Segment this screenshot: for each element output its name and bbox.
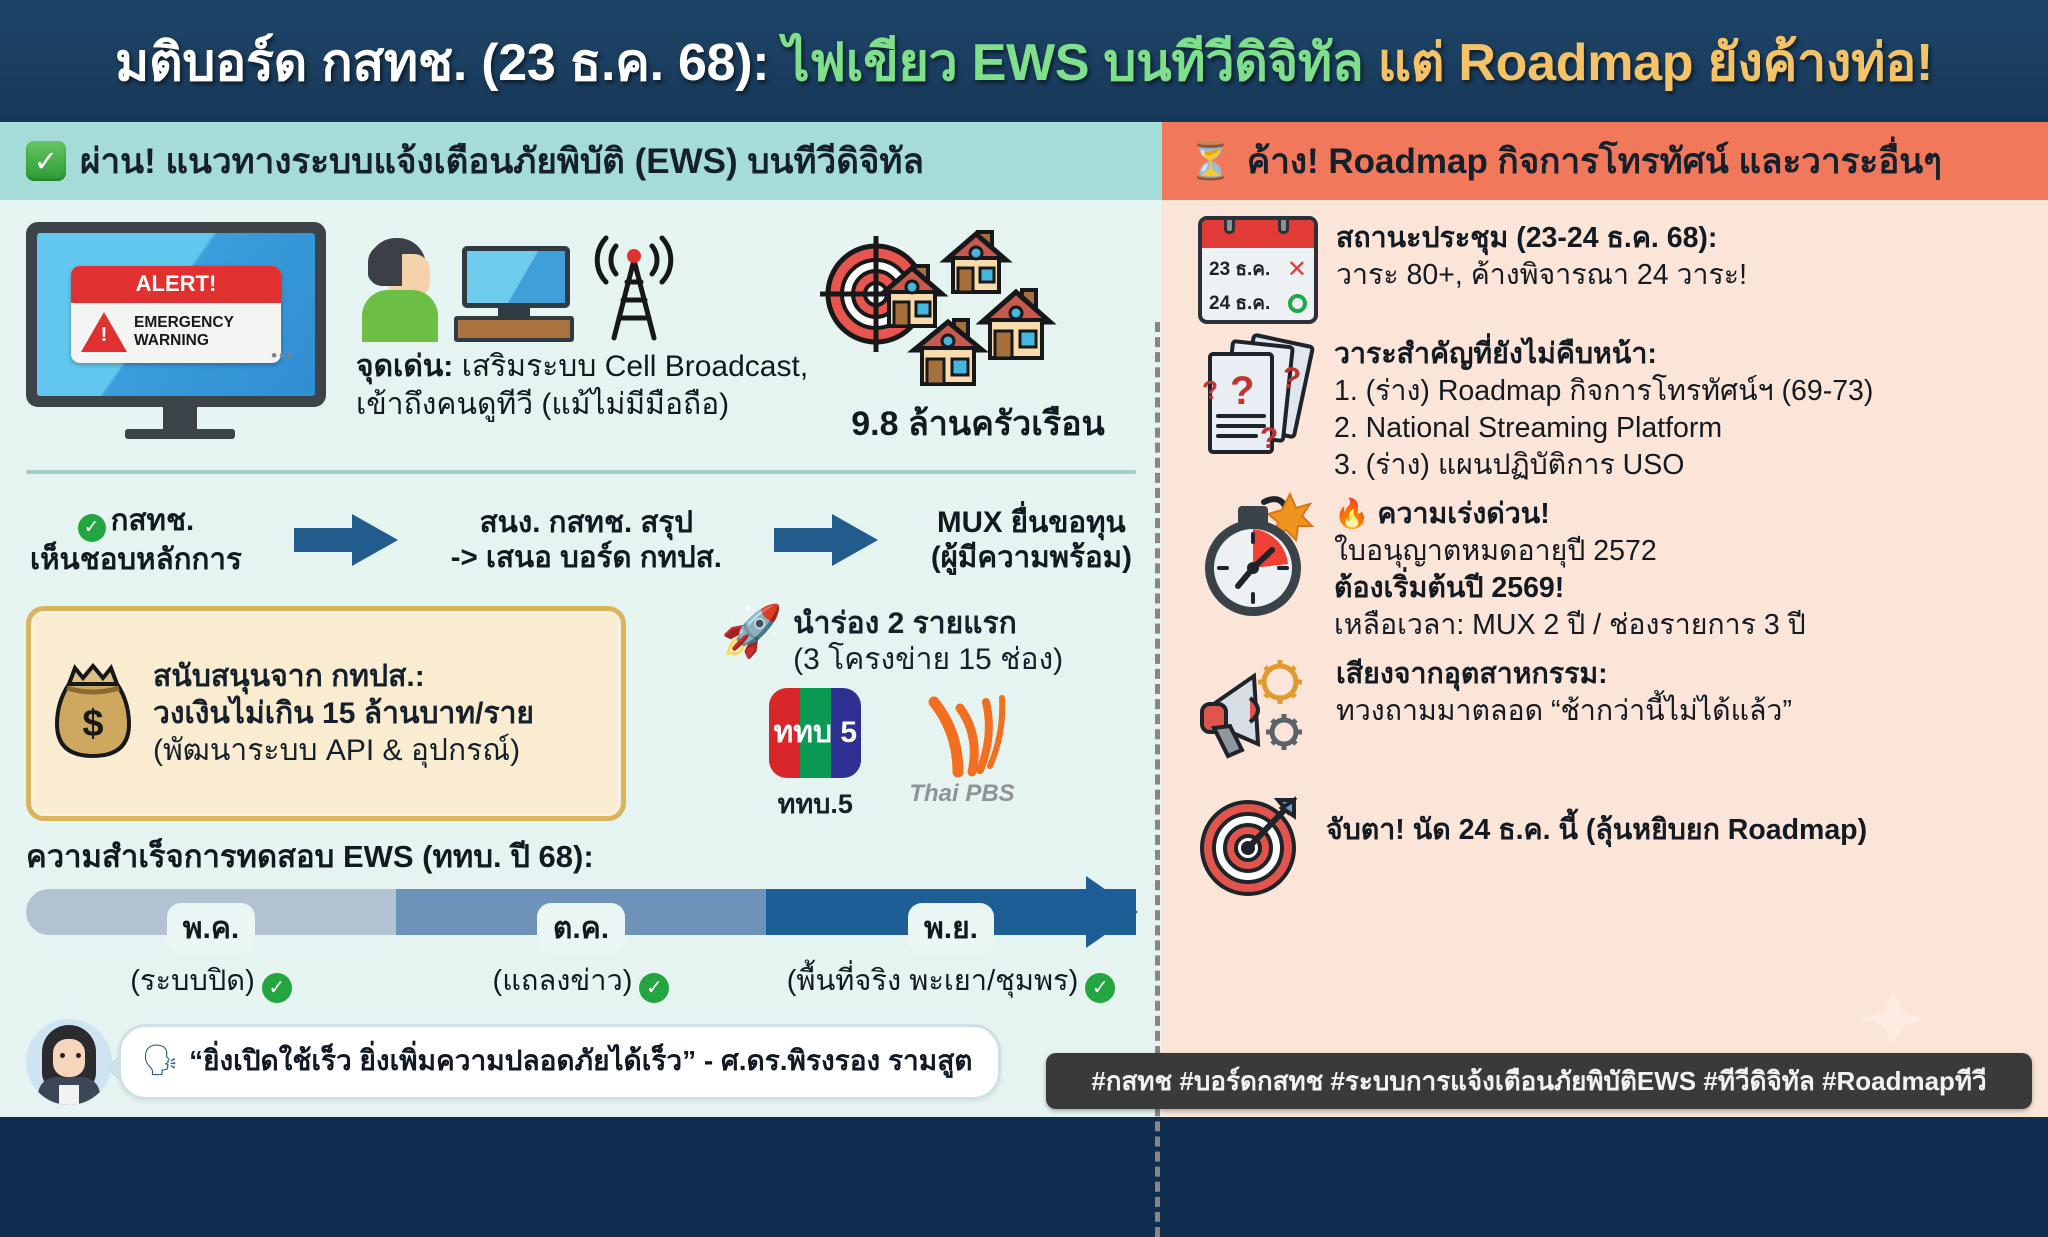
- viewer-illustration: [356, 222, 812, 342]
- megaphone-gears-icon: [1198, 652, 1318, 770]
- urgency-title: 🔥 ความเร่งด่วน!: [1334, 496, 1806, 533]
- flow-step-3-line1: MUX ยื่นขอทุน: [931, 505, 1132, 540]
- hourglass-icon: ⏳: [1188, 143, 1233, 179]
- calendar-row-2: 24 ธ.ค.: [1207, 286, 1309, 320]
- calendar-graphic: 23 ธ.ค. ✕ 24 ธ.ค.: [1198, 216, 1318, 324]
- title-part-2: ไฟเขียว EWS บนทีวีดิจิทัล: [783, 34, 1377, 92]
- broadcast-tower-icon: [586, 230, 682, 342]
- warn-line-2: WARNING: [134, 332, 234, 350]
- documents-graphic: ? ? ? ?: [1198, 332, 1316, 462]
- circle-icon: [1288, 294, 1307, 313]
- funding-line-3: (พัฒนาระบบ API & อุปกรณ์): [153, 732, 534, 769]
- logo-item-thaipbs: Thai PBS: [909, 688, 1014, 825]
- right-panel-header: ⏳ ค้าง! Roadmap กิจการโทรทัศน์ และวาระอื…: [1162, 122, 2048, 200]
- urgency-title-label: ความเร่งด่วน!: [1377, 498, 1549, 530]
- title-part-3: แต่ Roadmap ยังค้างท่อ!: [1378, 34, 1933, 92]
- funding-pilot-row: $ สนับสนุนจาก กทปส.: วงเงินไม่เกิน 15 ล้…: [26, 606, 1136, 821]
- left-panel-header-label: ผ่าน! แนวทางระบบแจ้งเตือนภัยพิบัติ (EWS)…: [80, 134, 924, 189]
- pilot-logos: ททบ 5 ททบ.5: [648, 688, 1136, 825]
- highlight-text: จุดเด่น: เสริมระบบ Cell Broadcast, เข้าถ…: [356, 348, 812, 423]
- timeline-point-2-month: ต.ค.: [537, 903, 625, 955]
- tv-frame: ALERT! EMERGENCY WARNING: [26, 222, 326, 407]
- timeline-point-1: พ.ค. (ระบบปิด)✓: [26, 903, 396, 1003]
- stalled-agenda-line-3: 3. (ร่าง) แผนปฏิบัติการ USO: [1334, 447, 1873, 484]
- alert-body: EMERGENCY WARNING: [71, 303, 281, 363]
- left-panel-approved: ✓ ผ่าน! แนวทางระบบแจ้งเตือนภัยพิบัติ (EW…: [0, 122, 1162, 1117]
- highlight-column: จุดเด่น: เสริมระบบ Cell Broadcast, เข้าถ…: [342, 222, 812, 423]
- check-circle-icon: ✓: [639, 973, 669, 1003]
- rocket-icon: 🚀: [721, 606, 783, 656]
- right-item-watch: จับตา! นัด 24 ธ.ค. นี้ (ลุ้นหยิบยก Roadm…: [1198, 786, 2028, 896]
- timeline-point-1-note: (ระบบปิด)✓: [26, 957, 396, 1003]
- alert-warning-text: EMERGENCY WARNING: [134, 314, 234, 351]
- bomb-clock-graphic: [1198, 492, 1316, 620]
- warning-triangle-icon: [81, 312, 127, 352]
- right-item-meeting-status: 23 ธ.ค. ✕ 24 ธ.ค. สถานะประชุม (2: [1198, 216, 2028, 324]
- speaking-head-icon: 🗣: [141, 1046, 179, 1076]
- right-panel-body: 23 ธ.ค. ✕ 24 ธ.ค. สถานะประชุม (2: [1162, 200, 2048, 1117]
- white-check-mark-icon: ✓: [26, 141, 66, 181]
- stalled-agenda-title: วาระสำคัญที่ยังไม่คืบหน้า:: [1334, 336, 1873, 373]
- right-item-urgency-text: 🔥 ความเร่งด่วน! ใบอนุญาตหมดอายุปี 2572 ต…: [1334, 492, 1806, 644]
- calendar-row-2-date: 24 ธ.ค.: [1209, 288, 1270, 318]
- flow-arrow-2-icon: [774, 514, 878, 566]
- small-tv-icon: [454, 246, 572, 342]
- pilot-line-1: นำร่อง 2 รายแรก: [793, 606, 1063, 642]
- meeting-status-title: สถานะประชุม (23-24 ธ.ค. 68):: [1336, 220, 1747, 257]
- highlight-label: จุดเด่น:: [356, 350, 453, 383]
- thaipbs-bird-icon: [914, 688, 1010, 778]
- right-panel-header-label: ค้าง! Roadmap กิจการโทรทัศน์ และวาระอื่น…: [1247, 134, 1942, 189]
- highlight-line-2: เข้าถึงคนดูทีวี (แม้ไม่มีมือถือ): [356, 386, 812, 424]
- meeting-status-line-1: วาระ 80+, ค้างพิจารณา 24 วาระ!: [1336, 257, 1747, 294]
- pilot-heading: 🚀 นำร่อง 2 รายแรก (3 โครงข่าย 15 ช่อง): [648, 606, 1136, 678]
- right-item-industry-text: เสียงจากอุตสาหกรรม: ทวงถามมาตลอด “ช้ากว่…: [1336, 652, 1792, 730]
- flow-step-3-line2: (ผู้มีความพร้อม): [931, 540, 1132, 575]
- flow-step-2-line2: -> เสนอ บอร์ด กทปส.: [451, 540, 722, 575]
- hashtag-text: #กสทช #บอร์ดกสทช #ระบบการแจ้งเตือนภัยพิบ…: [1091, 1061, 1986, 1102]
- thaipbs-logo-caption: Thai PBS: [909, 780, 1014, 808]
- target-and-houses-icon: [820, 222, 1120, 390]
- flow-step-1: ✓กสทช. เห็นชอบหลักการ: [30, 503, 242, 577]
- svg-text:$: $: [82, 703, 103, 745]
- right-item-stalled-agenda: ? ? ? ? วาระสำคัญที่ยังไม่คืบหน้า: 1. (ร…: [1198, 332, 2028, 484]
- megaphone-graphic: [1198, 652, 1318, 770]
- dartboard-graphic: [1198, 786, 1308, 896]
- tv-screen: ALERT! EMERGENCY WARNING: [37, 233, 315, 396]
- svg-text:?: ?: [1260, 422, 1278, 455]
- right-item-urgency: 🔥 ความเร่งด่วน! ใบอนุญาตหมดอายุปี 2572 ต…: [1198, 492, 2028, 644]
- highlight-line-1: เสริมระบบ Cell Broadcast,: [453, 350, 808, 383]
- infographic-page: มติบอร์ด กสทช. (23 ธ.ค. 68): ไฟเขียว EWS…: [0, 0, 2048, 1117]
- ews-test-timeline: พ.ค. (ระบบปิด)✓ ต.ค. (แถลงข่าว)✓ พ.ย. (พ…: [26, 889, 1136, 1009]
- timeline-marks: พ.ค. (ระบบปิด)✓ ต.ค. (แถลงข่าว)✓ พ.ย. (พ…: [26, 903, 1136, 1003]
- households-count: 9.8 ล้านครัวเรือน: [820, 396, 1136, 450]
- watermark-icon: [1858, 989, 1928, 1047]
- tv-base: [125, 429, 235, 439]
- right-item-industry-voice: เสียงจากอุตสาหกรรม: ทวงถามมาตลอด “ช้ากว่…: [1198, 652, 2028, 770]
- timeline-point-3-month: พ.ย.: [908, 903, 994, 955]
- money-bag-icon: $: [47, 662, 139, 766]
- right-item-agenda-text: วาระสำคัญที่ยังไม่คืบหน้า: 1. (ร่าง) Roa…: [1334, 332, 1873, 484]
- urgency-line-2: ต้องเริ่มต้นปี 2569!: [1334, 570, 1806, 607]
- industry-voice-line-1: ทวงถามมาตลอด “ช้ากว่านี้ไม่ได้แล้ว”: [1336, 693, 1792, 730]
- right-item-watch-text: จับตา! นัด 24 ธ.ค. นี้ (ลุ้นหยิบยก Roadm…: [1326, 786, 1867, 849]
- check-circle-icon: ✓: [262, 973, 292, 1003]
- alert-card: ALERT! EMERGENCY WARNING: [71, 266, 281, 363]
- timeline-point-2-note: (แถลงข่าว)✓: [396, 957, 766, 1003]
- urgency-line-1: ใบอนุญาตหมดอายุปี 2572: [1334, 533, 1806, 570]
- title-part-1: มติบอร์ด กสทช. (23 ธ.ค. 68):: [115, 34, 783, 92]
- documents-question-icon: ? ? ? ?: [1198, 332, 1316, 462]
- ch5-logo-caption: ททบ.5: [769, 782, 861, 825]
- timeline-point-2: ต.ค. (แถลงข่าว)✓: [396, 903, 766, 1003]
- timeline-point-3-note: (พื้นที่จริง พะเยา/ชุมพร)✓: [766, 957, 1136, 1003]
- calendar-row-1: 23 ธ.ค. ✕: [1207, 252, 1309, 286]
- industry-voice-title: เสียงจากอุตสาหกรรม:: [1336, 656, 1792, 693]
- page-title: มติบอร์ด กสทช. (23 ธ.ค. 68): ไฟเขียว EWS…: [115, 20, 1933, 103]
- urgency-line-3: เหลือเวลา: MUX 2 ปี / ช่องรายการ 3 ปี: [1334, 607, 1806, 644]
- flow-step-2-line1: สนง. กสทช. สรุป: [451, 505, 722, 540]
- person-icon: [362, 238, 440, 342]
- quote-row: 🗣 “ยิ่งเปิดใช้เร็ว ยิ่งเพิ่มความปลอดภัยไ…: [26, 1019, 1001, 1105]
- cross-icon: ✕: [1287, 255, 1307, 284]
- right-panel-pending: ⏳ ค้าง! Roadmap กิจการโทรทัศน์ และวาระอื…: [1162, 122, 2048, 1117]
- left-panel-body: ALERT! EMERGENCY WARNING: [0, 200, 1162, 1117]
- tv-stand: [163, 407, 197, 429]
- timeline-point-3: พ.ย. (พื้นที่จริง พะเยา/ชุมพร)✓: [766, 903, 1136, 1003]
- flow-step-1-line1: กสทช.: [111, 504, 195, 537]
- timeline-point-1-month: พ.ค.: [167, 903, 256, 955]
- flow-step-3: MUX ยื่นขอทุน (ผู้มีความพร้อม): [931, 505, 1132, 576]
- fire-icon: 🔥: [1334, 498, 1370, 530]
- ch5-logo-mark: ททบ 5: [769, 688, 861, 778]
- stalled-agenda-line-1: 1. (ร่าง) Roadmap กิจการโทรทัศน์ฯ (69-73…: [1334, 373, 1873, 410]
- tv-alert-illustration: ALERT! EMERGENCY WARNING: [26, 222, 334, 440]
- funding-line-2: วงเงินไม่เกิน 15 ล้านบาท/ราย: [153, 695, 534, 732]
- avatar: [26, 1019, 112, 1105]
- houses-target-illustration: [820, 222, 1136, 394]
- flow-step-2: สนง. กสทช. สรุป -> เสนอ บอร์ด กทปส.: [451, 505, 722, 576]
- alert-title: ALERT!: [71, 266, 281, 303]
- flow-arrow-1-icon: [294, 514, 398, 566]
- tv-indicator-dots: •••: [271, 346, 295, 366]
- logo-item-ch5: ททบ 5 ททบ.5: [769, 688, 861, 825]
- timeline-title: ความสำเร็จการทดสอบ EWS (ททบ. ปี 68):: [26, 831, 1136, 881]
- households-column: 9.8 ล้านครัวเรือน: [820, 222, 1136, 450]
- pilot-line-2: (3 โครงข่าย 15 ช่อง): [793, 642, 1063, 678]
- check-circle-icon: ✓: [78, 514, 106, 542]
- funding-box: $ สนับสนุนจาก กทปส.: วงเงินไม่เกิน 15 ล้…: [26, 606, 626, 821]
- svg-text:?: ?: [1230, 369, 1254, 413]
- panels-container: ✓ ผ่าน! แนวทางระบบแจ้งเตือนภัยพิบัติ (EW…: [0, 122, 2048, 1117]
- approval-flow: ✓กสทช. เห็นชอบหลักการ สนง. กสทช. สรุป ->…: [26, 488, 1136, 592]
- ch5-logo-icon: ททบ 5: [769, 688, 861, 778]
- flow-step-1-line2: เห็นชอบหลักการ: [30, 542, 242, 577]
- funding-line-1: สนับสนุนจาก กทปส.:: [153, 658, 534, 695]
- watch-title: จับตา! นัด 24 ธ.ค. นี้ (ลุ้นหยิบยก Roadm…: [1326, 812, 1867, 849]
- dartboard-icon: [1198, 786, 1308, 896]
- pilot-column: 🚀 นำร่อง 2 รายแรก (3 โครงข่าย 15 ช่อง) ท…: [648, 606, 1136, 821]
- hashtag-bar: #กสทช #บอร์ดกสทช #ระบบการแจ้งเตือนภัยพิบ…: [1046, 1053, 2032, 1109]
- bomb-clock-icon: [1198, 492, 1316, 620]
- calendar-icon: 23 ธ.ค. ✕ 24 ธ.ค.: [1198, 216, 1318, 324]
- title-bar: มติบอร์ด กสทช. (23 ธ.ค. 68): ไฟเขียว EWS…: [0, 0, 2048, 122]
- left-panel-header: ✓ ผ่าน! แนวทางระบบแจ้งเตือนภัยพิบัติ (EW…: [0, 122, 1162, 200]
- stalled-agenda-line-2: 2. National Streaming Platform: [1334, 410, 1873, 447]
- left-top-row: ALERT! EMERGENCY WARNING: [26, 222, 1136, 464]
- calendar-row-1-date: 23 ธ.ค.: [1209, 254, 1270, 284]
- left-divider: [26, 470, 1136, 474]
- quote-bubble: 🗣 “ยิ่งเปิดใช้เร็ว ยิ่งเพิ่มความปลอดภัยไ…: [118, 1024, 1001, 1100]
- check-circle-icon: ✓: [1085, 973, 1115, 1003]
- warn-line-1: EMERGENCY: [134, 314, 234, 332]
- right-item-meeting-text: สถานะประชุม (23-24 ธ.ค. 68): วาระ 80+, ค…: [1336, 216, 1747, 294]
- quote-text: “ยิ่งเปิดใช้เร็ว ยิ่งเพิ่มความปลอดภัยได้…: [189, 1039, 972, 1083]
- pilot-text: นำร่อง 2 รายแรก (3 โครงข่าย 15 ช่อง): [793, 606, 1063, 678]
- funding-text: สนับสนุนจาก กทปส.: วงเงินไม่เกิน 15 ล้าน…: [153, 658, 534, 770]
